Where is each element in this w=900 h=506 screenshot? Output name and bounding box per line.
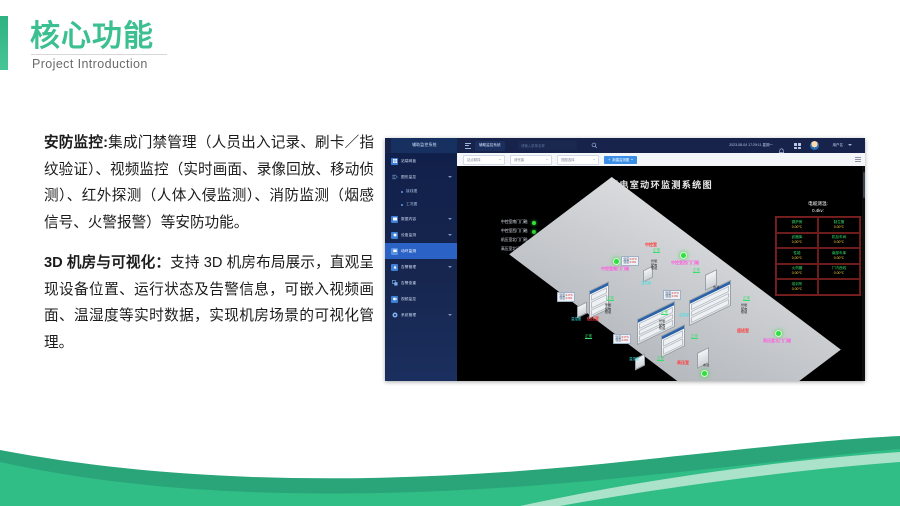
sidebar-item-env-label: 动环监测 [401, 249, 416, 254]
username-label: 用户名 [833, 143, 844, 148]
room-label-highvolt: 高压室 [677, 360, 689, 366]
sidebar-item-dedupe[interactable]: 告警查重 [385, 275, 457, 291]
status-tag: 正常 [693, 268, 700, 273]
page-subtitle: Project Introduction [32, 57, 148, 71]
hamburger-icon[interactable] [465, 143, 471, 149]
dedupe-icon [391, 280, 398, 287]
sidebar-item-settings-label: 系统管理 [401, 313, 416, 318]
filter-select-site-label: 站点精择 [467, 157, 481, 162]
status-tag: 正常 [653, 248, 660, 253]
paragraph-security-lead: 安防监控: [44, 135, 108, 151]
app-brand-label: 辅助监控系统 [412, 143, 437, 148]
callout-hum-value: 0.0% [566, 296, 572, 300]
cable-temperature-title: 电缆测温: [775, 200, 861, 207]
temperature-cell-value: 0.00℃ [819, 225, 859, 230]
door-sensor-row: 中控室西门门磁 [501, 227, 536, 236]
sensor-callout: 温度:0.0°C 湿度:0.0% [557, 292, 575, 302]
sidebar-item-dashboard[interactable]: 站端网板 [385, 153, 457, 169]
chevron-down-icon [546, 159, 548, 160]
paragraph-security: 安防监控:集成门禁管理（人员出入记录、刷卡／指纹验证）、视频监控（实时画面、录像… [44, 130, 374, 236]
device-icon [391, 232, 398, 239]
sidebar-subitem-wiring[interactable]: 接线图 [385, 185, 457, 198]
callout-hum-value: 0.0% [622, 338, 628, 342]
temperature-cell-value: 0.00℃ [777, 240, 817, 245]
temperature-cell: 厂内西线 0.00℃ [818, 264, 860, 280]
sensor-callout: 温度:0.0°C 湿度:0.0% [613, 334, 631, 344]
device-tag-th: 温湿度 [571, 316, 581, 321]
sidebar-item-dedupe-label: 告警查重 [401, 281, 416, 286]
timestamp: 2023-08-04 17:29:11 星期一 [729, 143, 773, 148]
status-led [680, 252, 687, 259]
search-placeholder: 请输入菜单名称 [521, 143, 545, 148]
diagram-canvas[interactable]: 配电室动环监测系统图 中控室南门门磁 中控室西门门磁 机压室北门门磁 高压室北门… [457, 166, 865, 381]
status-tag: 正常 [585, 334, 592, 339]
settings-icon [391, 312, 398, 319]
chevron-down-icon[interactable] [448, 218, 452, 220]
sidebar-item-video[interactable]: 视频监控 [385, 291, 457, 307]
sidebar-item-settings[interactable]: 系统管理 [385, 307, 457, 323]
tab-active[interactable]: 辅助监控系统 [475, 141, 505, 151]
sidebar-item-alarm-label: 告警管理 [401, 265, 416, 270]
status-led [775, 330, 782, 337]
app-topbar: 辅助监控系统 辅助监控系统 请输入菜单名称 2023-08-04 17:29:1… [385, 138, 865, 153]
title-accent-bar [0, 16, 8, 70]
diagram-title: 配电室动环监测系统图 [457, 178, 865, 191]
paragraph-3d-lead: 3D 机房与可视化： [44, 255, 170, 271]
temperature-cell-value: 0.00℃ [777, 225, 817, 230]
door-marker-label: 高压室北门门磁 [763, 338, 791, 344]
temperature-cell: 武器库 0.00℃ [776, 233, 818, 249]
filter-select-secondary[interactable]: 请完善 [510, 155, 552, 165]
status-led [532, 221, 536, 225]
water-tag: 水浸 [703, 364, 709, 368]
status-led [701, 370, 708, 377]
page-title: 核心功能 [30, 18, 154, 56]
water-tag: 水浸 [713, 286, 719, 290]
status-tag: 正常 [657, 356, 664, 361]
cable-temperature-panel: 电缆测温: 0.4kv: 锅炉房 0.00℃ 制生管 0.00℃ 武器库 0.0… [775, 200, 861, 296]
status-tag: 正常 [743, 296, 750, 301]
temperature-cell: 火药罐 0.00℃ [776, 264, 818, 280]
alarm-icon [391, 264, 398, 271]
sensor-callout: 温度:0.0°C 湿度:0.0% [663, 290, 681, 300]
chevron-down-icon [631, 159, 633, 160]
video-icon [391, 296, 398, 303]
temperature-cell-value: 0.00℃ [819, 271, 859, 276]
avatar[interactable] [810, 141, 819, 150]
bullet-icon [401, 191, 403, 193]
data-icon [391, 216, 398, 223]
product-screenshot: 辅助监控系统 辅助监控系统 请输入菜单名称 2023-08-04 17:29:1… [385, 138, 865, 381]
sidebar-item-device[interactable]: 设备监测 [385, 227, 457, 243]
list-menu-icon[interactable] [855, 157, 861, 163]
tab-active-label: 辅助监控系统 [479, 143, 501, 148]
temperature-cell-value: 0.00℃ [777, 287, 817, 292]
device-tag-th: 温湿度 [641, 280, 651, 285]
sidebar: 站端网板 图形监控 接线图 工况图 数据内容 [385, 153, 457, 381]
chevron-down-icon [593, 159, 595, 160]
paragraph-3d: 3D 机房与可视化：支持 3D 机房布局展示，直观呈现设备位置、运行状态及告警信… [44, 250, 374, 356]
sensor-callout: 温度:0.0°C 湿度:0.0% [621, 256, 639, 266]
add-diagram-button-label: 新建监测图 [612, 157, 629, 162]
graph-icon [391, 174, 398, 181]
temperature-cell: 制生管 0.00℃ [818, 217, 860, 233]
sidebar-subitem-wiring-label: 接线图 [406, 189, 417, 194]
temperature-cell: 锅炉房 0.00℃ [776, 217, 818, 233]
temperature-cell-value: 0.00℃ [819, 240, 859, 245]
device-tag-th: 温湿度 [629, 356, 639, 361]
callout-hum-value: 0.0% [672, 294, 678, 298]
status-led [532, 230, 536, 234]
filter-select-view[interactable]: 视图选择 [557, 155, 599, 165]
temperature-cell [818, 279, 860, 295]
temperature-cell-value: 0.00℃ [777, 256, 817, 261]
app-brand: 辅助监控系统 [391, 138, 457, 153]
cabinet-tag: 智能 配电 柜组 [605, 304, 611, 315]
apps-grid-icon[interactable] [794, 143, 801, 149]
filter-toolbar: 站点精择 请完善 视图选择 + 新建监测图 [457, 153, 865, 167]
status-tag: 正常 [691, 334, 698, 339]
room-label-duty: 值班室 [737, 328, 749, 334]
bell-icon[interactable] [778, 142, 785, 149]
sidebar-item-data-label: 数据内容 [401, 217, 416, 222]
status-tag: 正常 [661, 310, 668, 315]
plus-icon: + [608, 158, 610, 162]
footer-wave-decoration [0, 416, 900, 506]
cable-temperature-grid: 锅炉房 0.00℃ 制生管 0.00℃ 武器库 0.00℃ 机加车间 0.00℃… [775, 216, 861, 296]
add-diagram-button[interactable]: + 新建监测图 [604, 156, 637, 164]
temperature-cell: 培训所 0.00℃ [776, 279, 818, 295]
temperature-cell-value: 0.00℃ [819, 256, 859, 261]
door-sensor-row: 中控室南门门磁 [501, 218, 536, 227]
door-sensor-label: 中控室南门门磁 [501, 220, 528, 225]
chevron-down-icon[interactable] [448, 234, 452, 236]
env-icon [391, 248, 398, 255]
body-copy: 安防监控:集成门禁管理（人员出入记录、刷卡／指纹验证）、视频监控（实时画面、录像… [44, 130, 374, 356]
door-marker-label: 中控室西门门磁 [671, 260, 699, 266]
filter-select-site[interactable]: 站点精择 [463, 155, 505, 165]
door-marker-label: 中控室南门门磁 [601, 266, 629, 272]
sidebar-item-video-label: 视频监控 [401, 297, 416, 302]
temperature-cell-value: 0.00℃ [777, 271, 817, 276]
device-tag-th: 温湿度 [679, 312, 689, 317]
status-led [613, 258, 620, 265]
status-tag: 正常 [607, 296, 614, 301]
sidebar-item-alarm[interactable]: 告警管理 [385, 259, 457, 275]
temperature-cell: 南部车库 0.00℃ [818, 248, 860, 264]
chevron-down-icon[interactable] [848, 144, 852, 146]
search-icon[interactable] [591, 142, 598, 149]
sidebar-item-env[interactable]: 动环监测 [385, 243, 457, 259]
search-input[interactable]: 请输入菜单名称 [518, 141, 577, 150]
sidebar-item-data[interactable]: 数据内容 [385, 211, 457, 227]
sidebar-subitem-condition-label: 工况图 [406, 202, 417, 207]
temperature-cell: 机加车间 0.00℃ [818, 233, 860, 249]
cable-temperature-subtitle: 0.4kv: [775, 207, 861, 214]
chevron-down-icon[interactable] [448, 314, 452, 316]
sidebar-subitem-condition[interactable]: 工况图 [385, 198, 457, 211]
vertical-scrollbar[interactable] [862, 166, 865, 381]
chevron-down-icon[interactable] [448, 266, 452, 268]
sidebar-item-graph-label: 图形监控 [401, 175, 416, 180]
filter-select-view-label: 视图选择 [561, 157, 575, 162]
chevron-up-icon[interactable] [448, 176, 452, 178]
sidebar-item-dashboard-label: 站端网板 [401, 159, 416, 164]
cabinet-tag: 智能 配电 柜组 [651, 260, 657, 271]
title-divider [31, 54, 167, 55]
filter-select-secondary-label: 请完善 [514, 157, 524, 162]
sidebar-item-graph[interactable]: 图形监控 [385, 169, 457, 185]
callout-hum-value: 0.0% [630, 260, 636, 264]
bullet-icon [401, 204, 403, 206]
dashboard-icon [391, 158, 398, 165]
sidebar-item-device-label: 设备监测 [401, 233, 416, 238]
cabinet-tag: 智能 配电 柜组 [741, 304, 747, 315]
temperature-cell: 性能 0.00℃ [776, 248, 818, 264]
chevron-down-icon [499, 159, 501, 160]
door-sensor-label: 中控室西门门磁 [501, 229, 528, 234]
cabinet-tag: 智能 配电 柜组 [659, 320, 665, 331]
